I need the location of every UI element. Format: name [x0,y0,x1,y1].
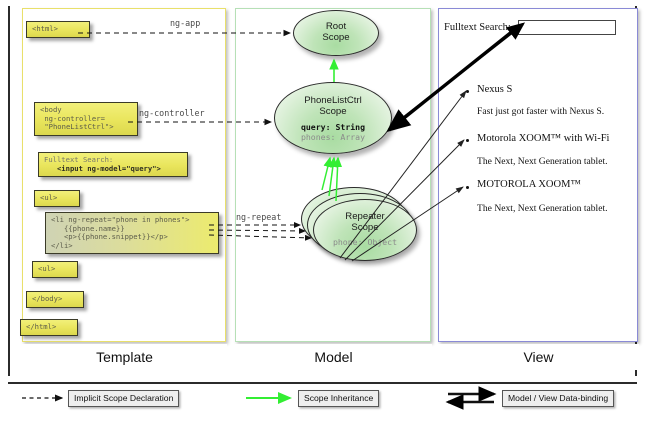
column-panel-view [438,8,638,342]
input-ng-model-code: <input ng-model="query"> [44,164,161,173]
column-label-model: Model [235,344,432,370]
view-search-label: Fulltext Search: [444,22,511,33]
legend-label-scope-inheritance: Scope Inheritance [304,393,373,403]
edge-label-ng-controller: ng-controller [139,108,205,118]
diagram-canvas: <html> <body ng-controller= "PhoneListCt… [0,0,645,425]
frame-left-rule [8,6,10,376]
html-close-tag-text: </html> [26,322,56,331]
code-box-fulltext-search-snippet: Fulltext Search: <input ng-model="query"… [38,152,188,177]
repeater-scope-title-line2: Scope [314,222,416,233]
code-box-ul-close-tag: <ul> [32,261,78,278]
li-ng-repeat-line4: </li> [51,241,73,250]
edge-label-ng-app: ng-app [170,18,200,28]
body-close-tag-text: </body> [32,294,62,303]
phone-snippet: The Next, Next Generation tablet. [477,203,608,214]
code-box-html-open-tag: <html> [26,21,90,38]
legend-label-implicit-scope-declaration: Implicit Scope Declaration [74,393,173,403]
scope-ellipse-phonelistctrl-scope: PhoneListCtrl Scope query: String phones… [274,82,392,154]
body-tag-line3: "PhoneListCtrl"> [40,122,114,131]
legend-chip-model-view-data-binding: Model / View Data-binding [502,390,614,407]
code-box-ul-open-tag: <ul> [34,190,80,207]
edge-label-ng-repeat: ng-repeat [236,212,281,222]
legend-chip-implicit-scope-declaration: Implicit Scope Declaration [68,390,179,407]
legend-chip-scope-inheritance: Scope Inheritance [298,390,379,407]
code-box-li-ng-repeat-snippet: <li ng-repeat="phone in phones"> {{phone… [45,212,219,254]
scope-ellipse-repeater-scope: Repeater Scope phone: Object [313,199,417,261]
repeater-scope-title-line1: Repeater [314,211,416,222]
code-box-body-controller-tag: <body ng-controller= "PhoneListCtrl"> [34,102,138,136]
ul-close-tag-text: <ul> [38,264,55,273]
phonelistctrl-field-phones: phones: Array [275,133,391,143]
phone-name: Nexus S [477,84,512,95]
root-scope-title-line1: Root [294,21,378,32]
column-label-template: Template [22,344,227,370]
code-box-body-close-tag: </body> [26,291,84,308]
root-scope-title-line2: Scope [294,32,378,43]
fulltext-search-input[interactable] [518,20,616,35]
phonelistctrl-scope-title-line2: Scope [275,106,391,117]
phone-name: Motorola XOOM™ with Wi-Fi [477,133,609,144]
code-box-html-close-tag: </html> [20,319,78,336]
column-label-view: View [438,344,639,370]
scope-ellipse-root-scope: Root Scope [293,10,379,56]
html-open-tag-text: <html> [32,24,58,33]
phone-name: MOTOROLA XOOM™ [477,179,581,190]
phone-snippet: The Next, Next Generation tablet. [477,156,608,167]
column-panel-model [235,8,431,342]
phone-snippet: Fast just got faster with Nexus S. [477,106,604,117]
phonelistctrl-scope-title-line1: PhoneListCtrl [275,95,391,106]
ul-open-tag-text: <ul> [40,193,57,202]
legend-divider [8,382,637,384]
repeater-field-phone: phone: Object [314,238,416,248]
legend-label-model-view-data-binding: Model / View Data-binding [508,393,608,403]
